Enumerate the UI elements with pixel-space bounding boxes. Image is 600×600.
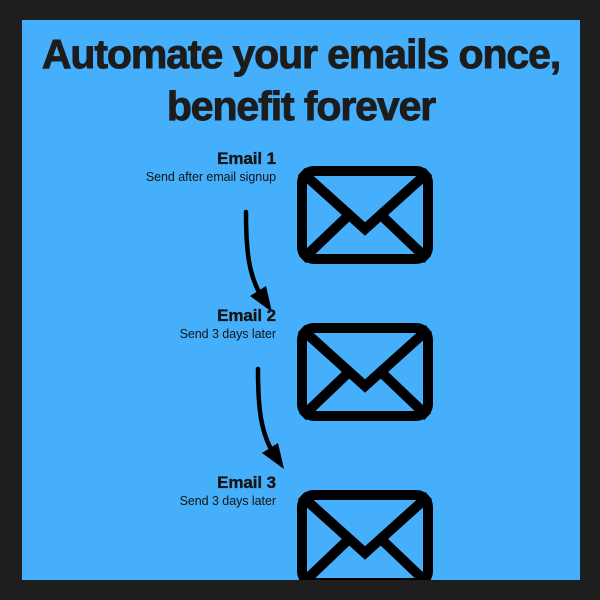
email-step-subtitle: Send 3 days later [62, 493, 276, 510]
poster-canvas: Automate your emails once, benefit forev… [0, 0, 600, 600]
curved-arrow-down-icon [224, 365, 314, 485]
envelope-icon [297, 490, 433, 580]
email-step-title: Email 3 [62, 472, 276, 493]
page-title: Automate your emails once, benefit forev… [22, 28, 580, 132]
email-step-subtitle: Send after email signup [62, 169, 276, 186]
email-step-row: Email 2 Send 3 days later [22, 305, 580, 405]
email-step-labels: Email 2 Send 3 days later [62, 305, 276, 343]
email-step-labels: Email 1 Send after email signup [62, 148, 276, 186]
email-step-row: Email 3 Send 3 days later [22, 472, 580, 572]
envelope-icon [297, 166, 433, 264]
email-step-labels: Email 3 Send 3 days later [62, 472, 276, 510]
email-step-title: Email 1 [62, 148, 276, 169]
email-step-subtitle: Send 3 days later [62, 326, 276, 343]
poster-panel: Automate your emails once, benefit forev… [22, 20, 580, 580]
envelope-icon [297, 323, 433, 421]
email-step-row: Email 1 Send after email signup [22, 148, 580, 248]
email-step-title: Email 2 [62, 305, 276, 326]
